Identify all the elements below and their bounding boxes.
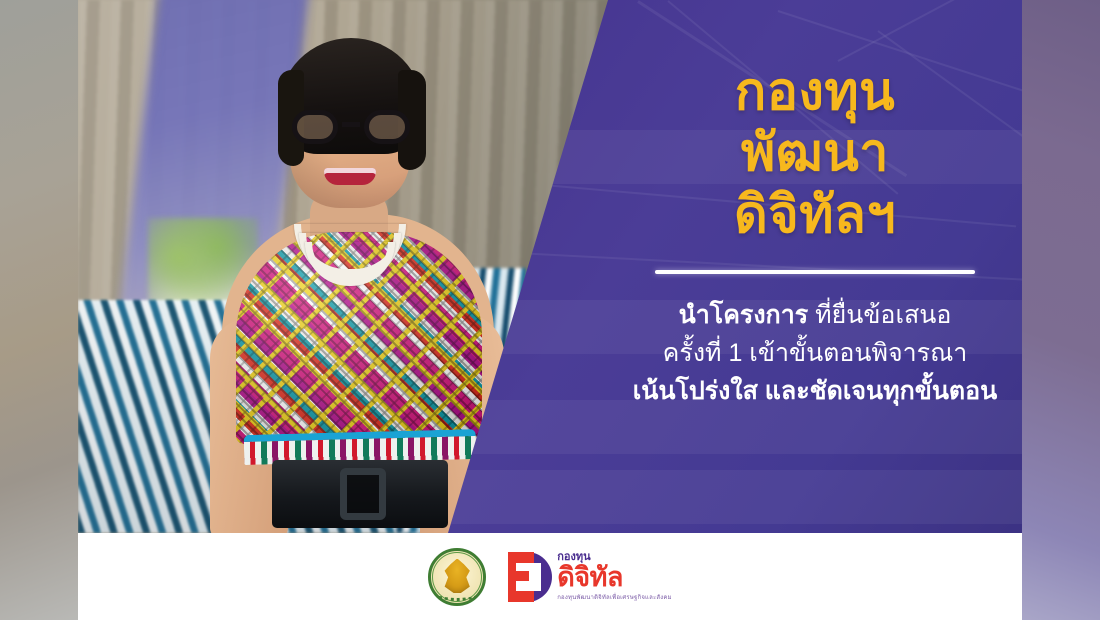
headline-text-block: กองทุน พัฒนา ดิจิทัลฯ นำโครงการ ที่ยื่นข… — [608, 0, 1022, 533]
mouth — [324, 168, 376, 185]
fund-logo-wordmark: กองทุน ดิจิทัล กองทุนพัฒนาดิจิทัลเพื่อเศ… — [557, 552, 672, 601]
left-edge-gradient — [0, 0, 80, 620]
eyeglasses-icon — [290, 110, 412, 144]
banner-stage: ช้อม กองทุน พัฒนา ดิจิทัลฯ นำโครงการ ที่… — [78, 0, 1022, 533]
headline-line-1: กองทุน — [734, 62, 896, 123]
pearl-necklace — [294, 224, 406, 292]
belt-buckle — [340, 468, 386, 520]
fund-logo-big-word: ดิจิทัล — [557, 564, 672, 591]
subtitle-line-1-bold: นำโครงการ — [679, 301, 809, 329]
footer-logo-bar: กองทุน ดิจิทัล กองทุนพัฒนาดิจิทัลเพื่อเศ… — [78, 533, 1022, 620]
headline: กองทุน พัฒนา ดิจิทัลฯ — [734, 62, 896, 246]
government-seal-icon — [428, 548, 486, 606]
subtitle-line-1: นำโครงการ ที่ยื่นข้อเสนอ — [633, 296, 998, 334]
subtitle-line-2: ครั้งที่ 1 เข้าขั้นตอนพิจารณา — [633, 334, 998, 372]
fund-logo-tagline: กองทุนพัฒนาดิจิทัลเพื่อเศรษฐกิจและสังคม — [557, 595, 672, 601]
digital-fund-logo: กองทุน ดิจิทัล กองทุนพัฒนาดิจิทัลเพื่อเศ… — [508, 552, 672, 602]
de-digital-mark-icon — [508, 552, 552, 602]
right-edge-gradient — [1020, 0, 1100, 620]
promo-banner: ช้อม กองทุน พัฒนา ดิจิทัลฯ นำโครงการ ที่… — [0, 0, 1100, 620]
headline-line-2: พัฒนา — [734, 123, 896, 184]
subtitle-line-3: เน้นโปร่งใส และชัดเจนทุกขั้นตอน — [633, 372, 998, 410]
headline-divider — [655, 270, 975, 274]
subtitle: นำโครงการ ที่ยื่นข้อเสนอ ครั้งที่ 1 เข้า… — [633, 296, 998, 410]
headline-line-3: ดิจิทัลฯ — [734, 185, 896, 246]
subtitle-line-1-rest: ที่ยื่นข้อเสนอ — [808, 301, 951, 329]
